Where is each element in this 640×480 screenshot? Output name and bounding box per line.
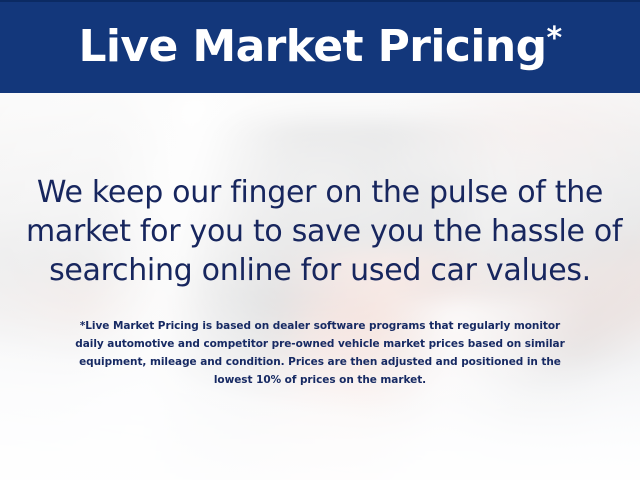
live-market-pricing-banner: Live Market Pricing* We keep our finger …	[0, 0, 640, 480]
headline-line-1: We keep our finger on the pulse of the	[26, 173, 614, 212]
headline: We keep our finger on the pulse of the m…	[26, 173, 614, 290]
headline-line-2: market for you to save you the hassle of	[26, 212, 614, 251]
disclaimer-line-4: lowest 10% of prices on the market.	[24, 371, 616, 389]
disclaimer-line-3: equipment, mileage and condition. Prices…	[24, 353, 616, 371]
page-title-text: Live Market Pricing	[78, 21, 546, 72]
headline-line-3: searching online for used car values.	[26, 251, 614, 290]
footnote-marker-icon: *	[546, 21, 561, 56]
banner-content: We keep our finger on the pulse of the m…	[0, 93, 640, 480]
disclaimer-line-1: *Live Market Pricing is based on dealer …	[24, 317, 616, 335]
disclaimer-line-2: daily automotive and competitor pre-owne…	[24, 335, 616, 353]
disclaimer-text: *Live Market Pricing is based on dealer …	[24, 317, 616, 389]
page-title: Live Market Pricing*	[78, 25, 561, 71]
header-band: Live Market Pricing*	[0, 0, 640, 93]
